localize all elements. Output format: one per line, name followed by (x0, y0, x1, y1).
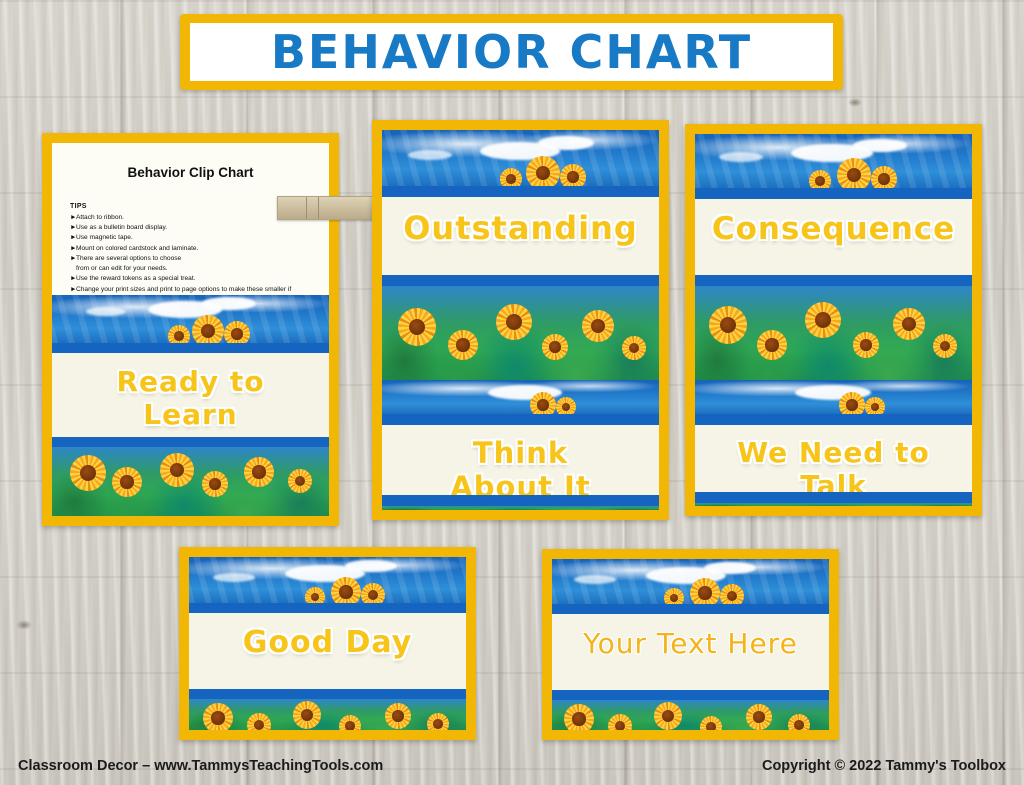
cloud-shape (704, 562, 756, 574)
artwork-bottom-band (695, 503, 972, 506)
card-page: Good Day (189, 557, 466, 730)
blue-stripe-upper (695, 188, 972, 199)
sunflower-center (201, 324, 215, 338)
sunflower-center (231, 328, 242, 339)
leaves-background (382, 506, 659, 510)
sunflower-icon (837, 158, 871, 192)
card-page: Your Text Here (552, 559, 829, 730)
tips-item: ►Use as a bulletin board display. (70, 223, 315, 233)
sunflower-icon (622, 336, 646, 360)
sunflower-center (506, 314, 522, 330)
blue-stripe-upper-2 (695, 414, 972, 425)
sunflower-icon (757, 330, 787, 360)
sunflower-icon (247, 713, 271, 730)
sunflower-center (174, 331, 184, 341)
card-label-outstanding: Outstanding (382, 210, 659, 248)
card-label-good-day: Good Day (189, 625, 466, 660)
sunflower-center (878, 173, 889, 184)
blue-stripe-upper (52, 343, 329, 353)
sunflower-icon (853, 332, 879, 358)
sunflower-icon (339, 715, 361, 730)
artwork-bottom-band (52, 447, 329, 516)
sunflower-center (506, 174, 516, 184)
sunflower-center (846, 399, 857, 410)
sunflower-icon (893, 308, 925, 340)
sunflower-center (80, 465, 96, 481)
blue-stripe-lower (552, 690, 829, 700)
sunflower-icon (288, 469, 312, 493)
tips-item: ►Use magnetic tape. (70, 233, 315, 243)
title-banner: BEHAVIOR CHART (180, 14, 843, 90)
sunflower-center (706, 722, 716, 730)
card-consequence-we-need-to-talk[interactable]: Consequence (685, 124, 982, 516)
sunflower-icon (203, 703, 233, 730)
tips-item-continuation: from or can edit for your needs. (70, 264, 315, 274)
sunflower-center (345, 721, 355, 730)
card-page: Consequence (695, 134, 972, 506)
sunflower-center (537, 399, 548, 410)
sunflower-center (252, 465, 265, 478)
page-title: BEHAVIOR CHART (271, 25, 752, 79)
blue-stripe-upper-2 (382, 414, 659, 425)
sunflower-cluster-top (695, 156, 972, 192)
sunflower-icon (542, 334, 568, 360)
sunflower-center (615, 721, 626, 730)
sunflower-icon (709, 306, 747, 344)
sunflower-cluster-top (382, 154, 659, 190)
cloud-shape (202, 297, 256, 310)
sunflower-icon (654, 702, 682, 730)
sunflower-center (794, 720, 804, 730)
sunflower-center (433, 719, 443, 729)
artwork-bottom-band (382, 506, 659, 510)
sunflower-icon (398, 308, 436, 346)
sunflower-icon (448, 330, 478, 360)
sunflower-icon (788, 714, 810, 730)
sunflower-center (765, 338, 778, 351)
blue-stripe-upper (189, 603, 466, 613)
cloud-shape (853, 139, 907, 152)
artwork-bottom-band (552, 700, 829, 730)
artwork-middle-band (382, 286, 659, 380)
sunflower-icon (70, 455, 106, 491)
sunflower-cluster-top (52, 313, 329, 347)
card-label-your-text-here: Your Text Here (552, 627, 829, 660)
artwork-middle-band (695, 286, 972, 380)
wood-knot-1 (848, 98, 862, 107)
sunflower-center (815, 312, 831, 328)
card-your-text-here[interactable]: Your Text Here (542, 549, 839, 740)
clip-seam (318, 197, 319, 219)
sunflower-center (753, 711, 764, 722)
tips-item: ►Use the reward tokens as a special trea… (70, 274, 315, 284)
blue-stripe-upper (382, 186, 659, 197)
card-page: Outstanding (382, 130, 659, 510)
sunflower-center (209, 478, 220, 489)
card-label-ready-to-learn: Ready to Learn (52, 365, 329, 431)
leaves-background (695, 503, 972, 506)
blue-stripe-upper (552, 604, 829, 614)
clip-seam (306, 197, 307, 219)
sunflower-icon (427, 713, 449, 730)
sunflower-icon (160, 453, 194, 487)
sunflower-center (120, 475, 133, 488)
card-good-day[interactable]: Good Day (179, 547, 476, 740)
sunflower-icon (526, 156, 560, 190)
sunflower-center (698, 586, 711, 599)
sunflower-center (211, 711, 224, 724)
sunflower-icon (564, 704, 594, 730)
blue-stripe-lower (189, 689, 466, 699)
blue-stripe-lower-2 (695, 492, 972, 503)
sunflower-center (339, 585, 352, 598)
card-label-consequence: Consequence (695, 211, 972, 248)
sunflower-icon (582, 310, 614, 342)
blue-stripe-lower (52, 437, 329, 447)
sunflower-center (902, 317, 916, 331)
tips-item: ►Mount on colored cardstock and laminate… (70, 244, 315, 254)
blue-stripe-lower (382, 275, 659, 286)
footer-copyright-right: Copyright © 2022 Tammy's Toolbox (762, 758, 1006, 774)
card-tips-ready-to-learn[interactable]: Behavior Clip Chart TIPS ►Attach to ribb… (42, 133, 339, 526)
blue-stripe-lower-2 (382, 495, 659, 506)
sunflower-icon (112, 467, 142, 497)
sunflower-center (591, 319, 605, 333)
footer-credit-left: Classroom Decor – www.TammysTeachingTool… (18, 758, 383, 774)
sunflower-icon (496, 304, 532, 340)
sunflower-icon (746, 704, 772, 730)
sunflower-icon (244, 457, 274, 487)
sunflower-center (815, 176, 825, 186)
blue-stripe-lower (695, 275, 972, 286)
sunflower-center (567, 171, 578, 182)
artwork-bottom-band (189, 699, 466, 730)
sunflower-center (549, 341, 560, 352)
sunflower-center (860, 339, 871, 350)
tips-item: ►There are several options to choose (70, 254, 315, 264)
sunflower-icon (805, 302, 841, 338)
tips-card-title: Behavior Clip Chart (52, 165, 329, 180)
wood-knot-2 (16, 620, 32, 630)
sunflower-icon (385, 703, 411, 729)
sunflower-icon (202, 471, 228, 497)
sunflower-icon (293, 701, 321, 729)
sunflower-icon (933, 334, 957, 358)
card-outstanding-think-about-it[interactable]: Outstanding (372, 120, 669, 520)
cloud-shape (345, 560, 397, 572)
sunflower-center (392, 710, 403, 721)
sunflower-center (456, 338, 469, 351)
tips-list: ►Attach to ribbon. ►Use as a bulletin bo… (70, 213, 315, 305)
title-banner-inner: BEHAVIOR CHART (190, 23, 833, 81)
tips-heading: TIPS (70, 203, 87, 210)
sunflower-center (572, 712, 585, 725)
cloud-shape (538, 136, 594, 150)
